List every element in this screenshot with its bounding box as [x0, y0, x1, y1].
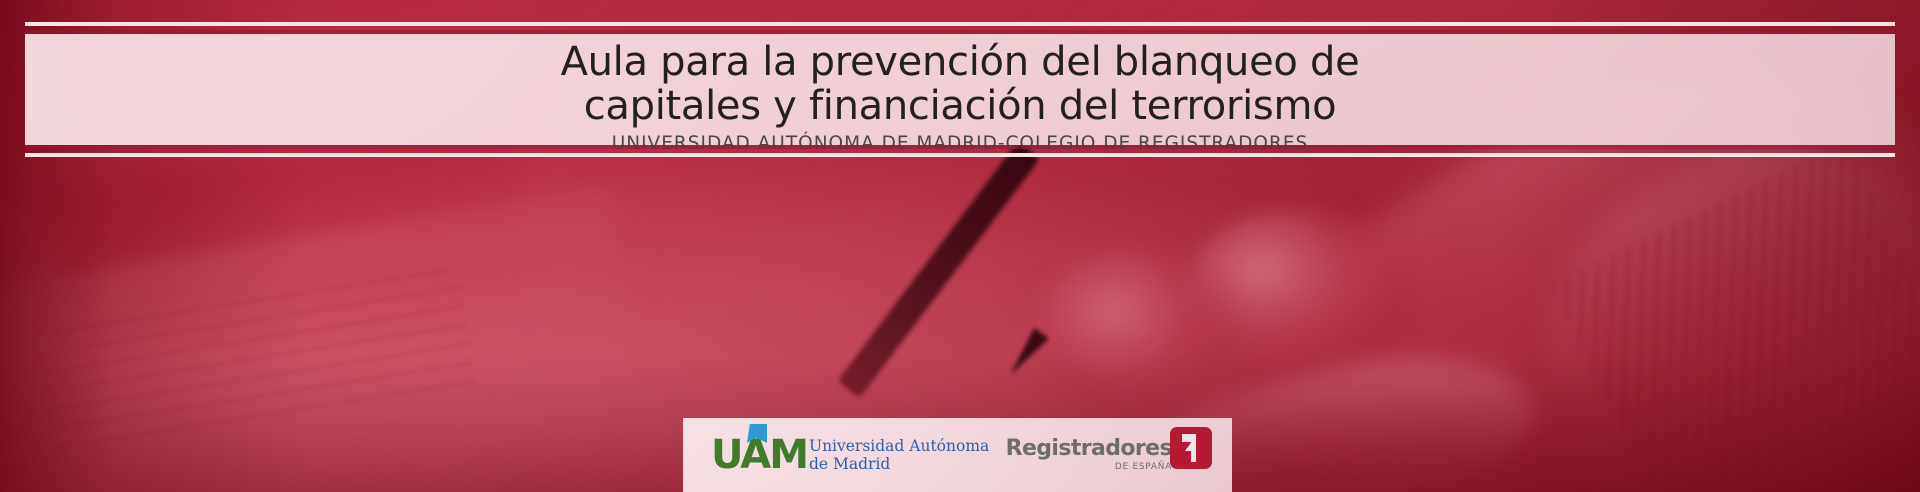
registradores-wordmark: Registradores DE ESPAÑA: [1006, 438, 1172, 472]
uam-logomark: UAM: [711, 433, 797, 477]
registradores-r-icon: [1170, 427, 1212, 469]
title-banner: Aula para la prevención del blanqueo de …: [25, 22, 1895, 157]
page-title-line-2: capitales y financiación del terrorismo: [584, 84, 1337, 128]
page-subtitle: UNIVERSIDAD AUTÓNOMA DE MADRID-COLEGIO D…: [612, 133, 1309, 155]
registradores-logo[interactable]: Registradores DE ESPAÑA: [1006, 427, 1212, 483]
registradores-subtitle: DE ESPAÑA: [1115, 463, 1172, 472]
uam-name-line-1: Universidad Autónoma: [809, 437, 989, 455]
logo-bar: UAM Universidad Autónoma de Madrid Regis…: [683, 418, 1232, 492]
banner-bottom-inner-rule: [25, 145, 1895, 149]
uam-wordmark: Universidad Autónoma de Madrid: [809, 437, 989, 473]
registradores-name: Registradores: [1006, 438, 1172, 460]
uam-logo[interactable]: UAM Universidad Autónoma de Madrid: [711, 433, 989, 477]
page-title-line-1: Aula para la prevención del blanqueo de: [561, 40, 1360, 84]
title-panel: Aula para la prevención del blanqueo de …: [25, 34, 1895, 145]
banner-bottom-outer-rule: [25, 153, 1895, 157]
uam-name-line-2: de Madrid: [809, 455, 989, 473]
banner-top-outer-rule: [25, 22, 1895, 26]
hero-banner: Aula para la prevención del blanqueo de …: [0, 0, 1920, 492]
